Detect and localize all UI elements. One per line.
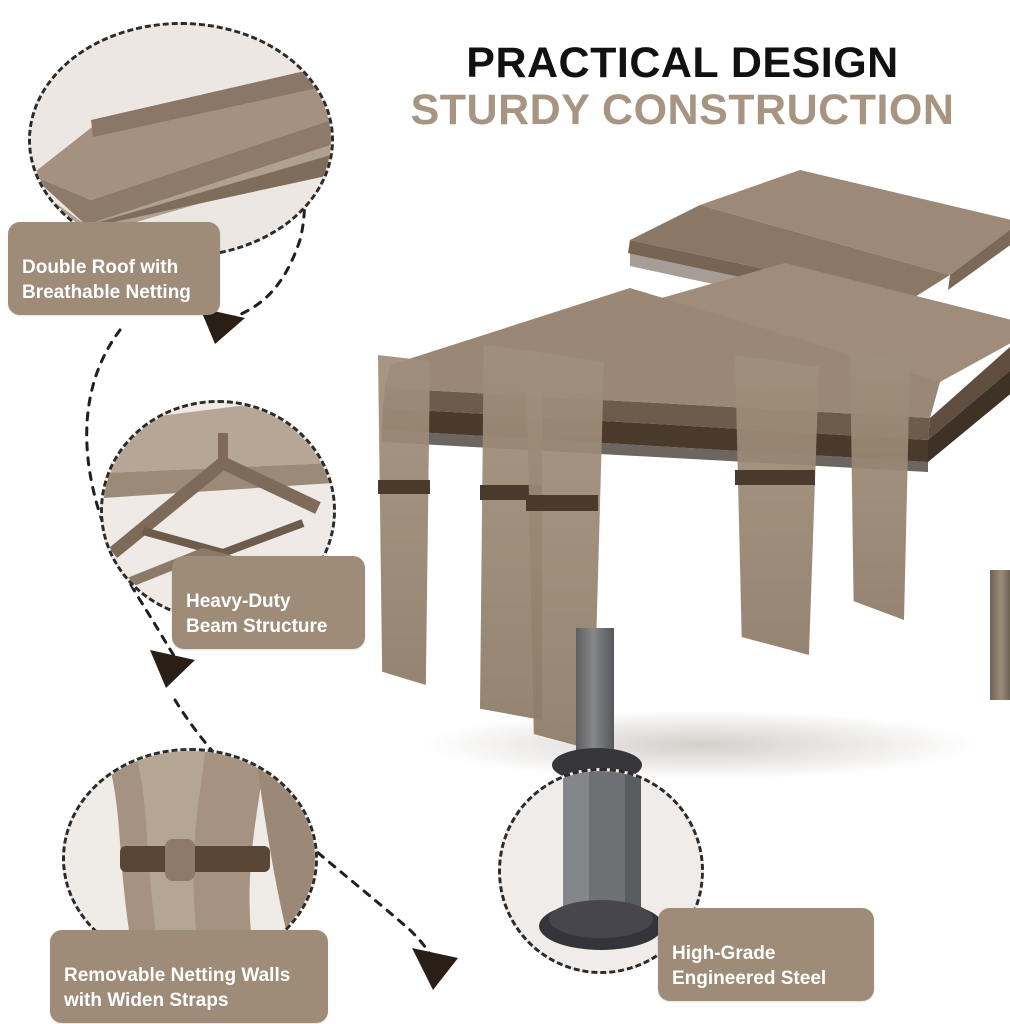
curtain-center-strap <box>526 495 598 511</box>
gazebo-leg-right <box>990 570 1010 700</box>
callout-netting-walls: Removable Netting Walls with Widen Strap… <box>50 930 328 1023</box>
callout-beam-structure-text: Heavy-Duty Beam Structure <box>186 591 328 636</box>
ground-shadow <box>420 710 980 780</box>
headline-line-1: PRACTICAL DESIGN <box>370 40 995 86</box>
page-title: PRACTICAL DESIGN STURDY CONSTRUCTION <box>370 40 995 135</box>
infographic-root: PRACTICAL DESIGN STURDY CONSTRUCTION <box>0 0 1010 1024</box>
curtain-right-strap <box>735 470 815 485</box>
callout-steel: High-Grade Engineered Steel <box>658 908 874 1001</box>
callout-beam-structure: Heavy-Duty Beam Structure <box>172 556 365 649</box>
steel-post <box>576 628 614 763</box>
curtain-right <box>735 355 819 655</box>
callout-double-roof-text: Double Roof with Breathable Netting <box>22 257 191 302</box>
gazebo-illustration <box>330 150 1010 850</box>
roof-corner-art <box>31 25 331 255</box>
callout-double-roof: Double Roof with Breathable Netting <box>8 222 220 315</box>
callout-netting-walls-text: Removable Netting Walls with Widen Strap… <box>64 965 290 1010</box>
curtain-far-right <box>850 350 910 620</box>
curtain-left-strap <box>378 480 430 494</box>
curtain-left <box>378 355 430 685</box>
headline-line-2: STURDY CONSTRUCTION <box>370 86 995 134</box>
callout-steel-text: High-Grade Engineered Steel <box>672 943 826 988</box>
roof-corner-detail-image <box>31 25 331 255</box>
